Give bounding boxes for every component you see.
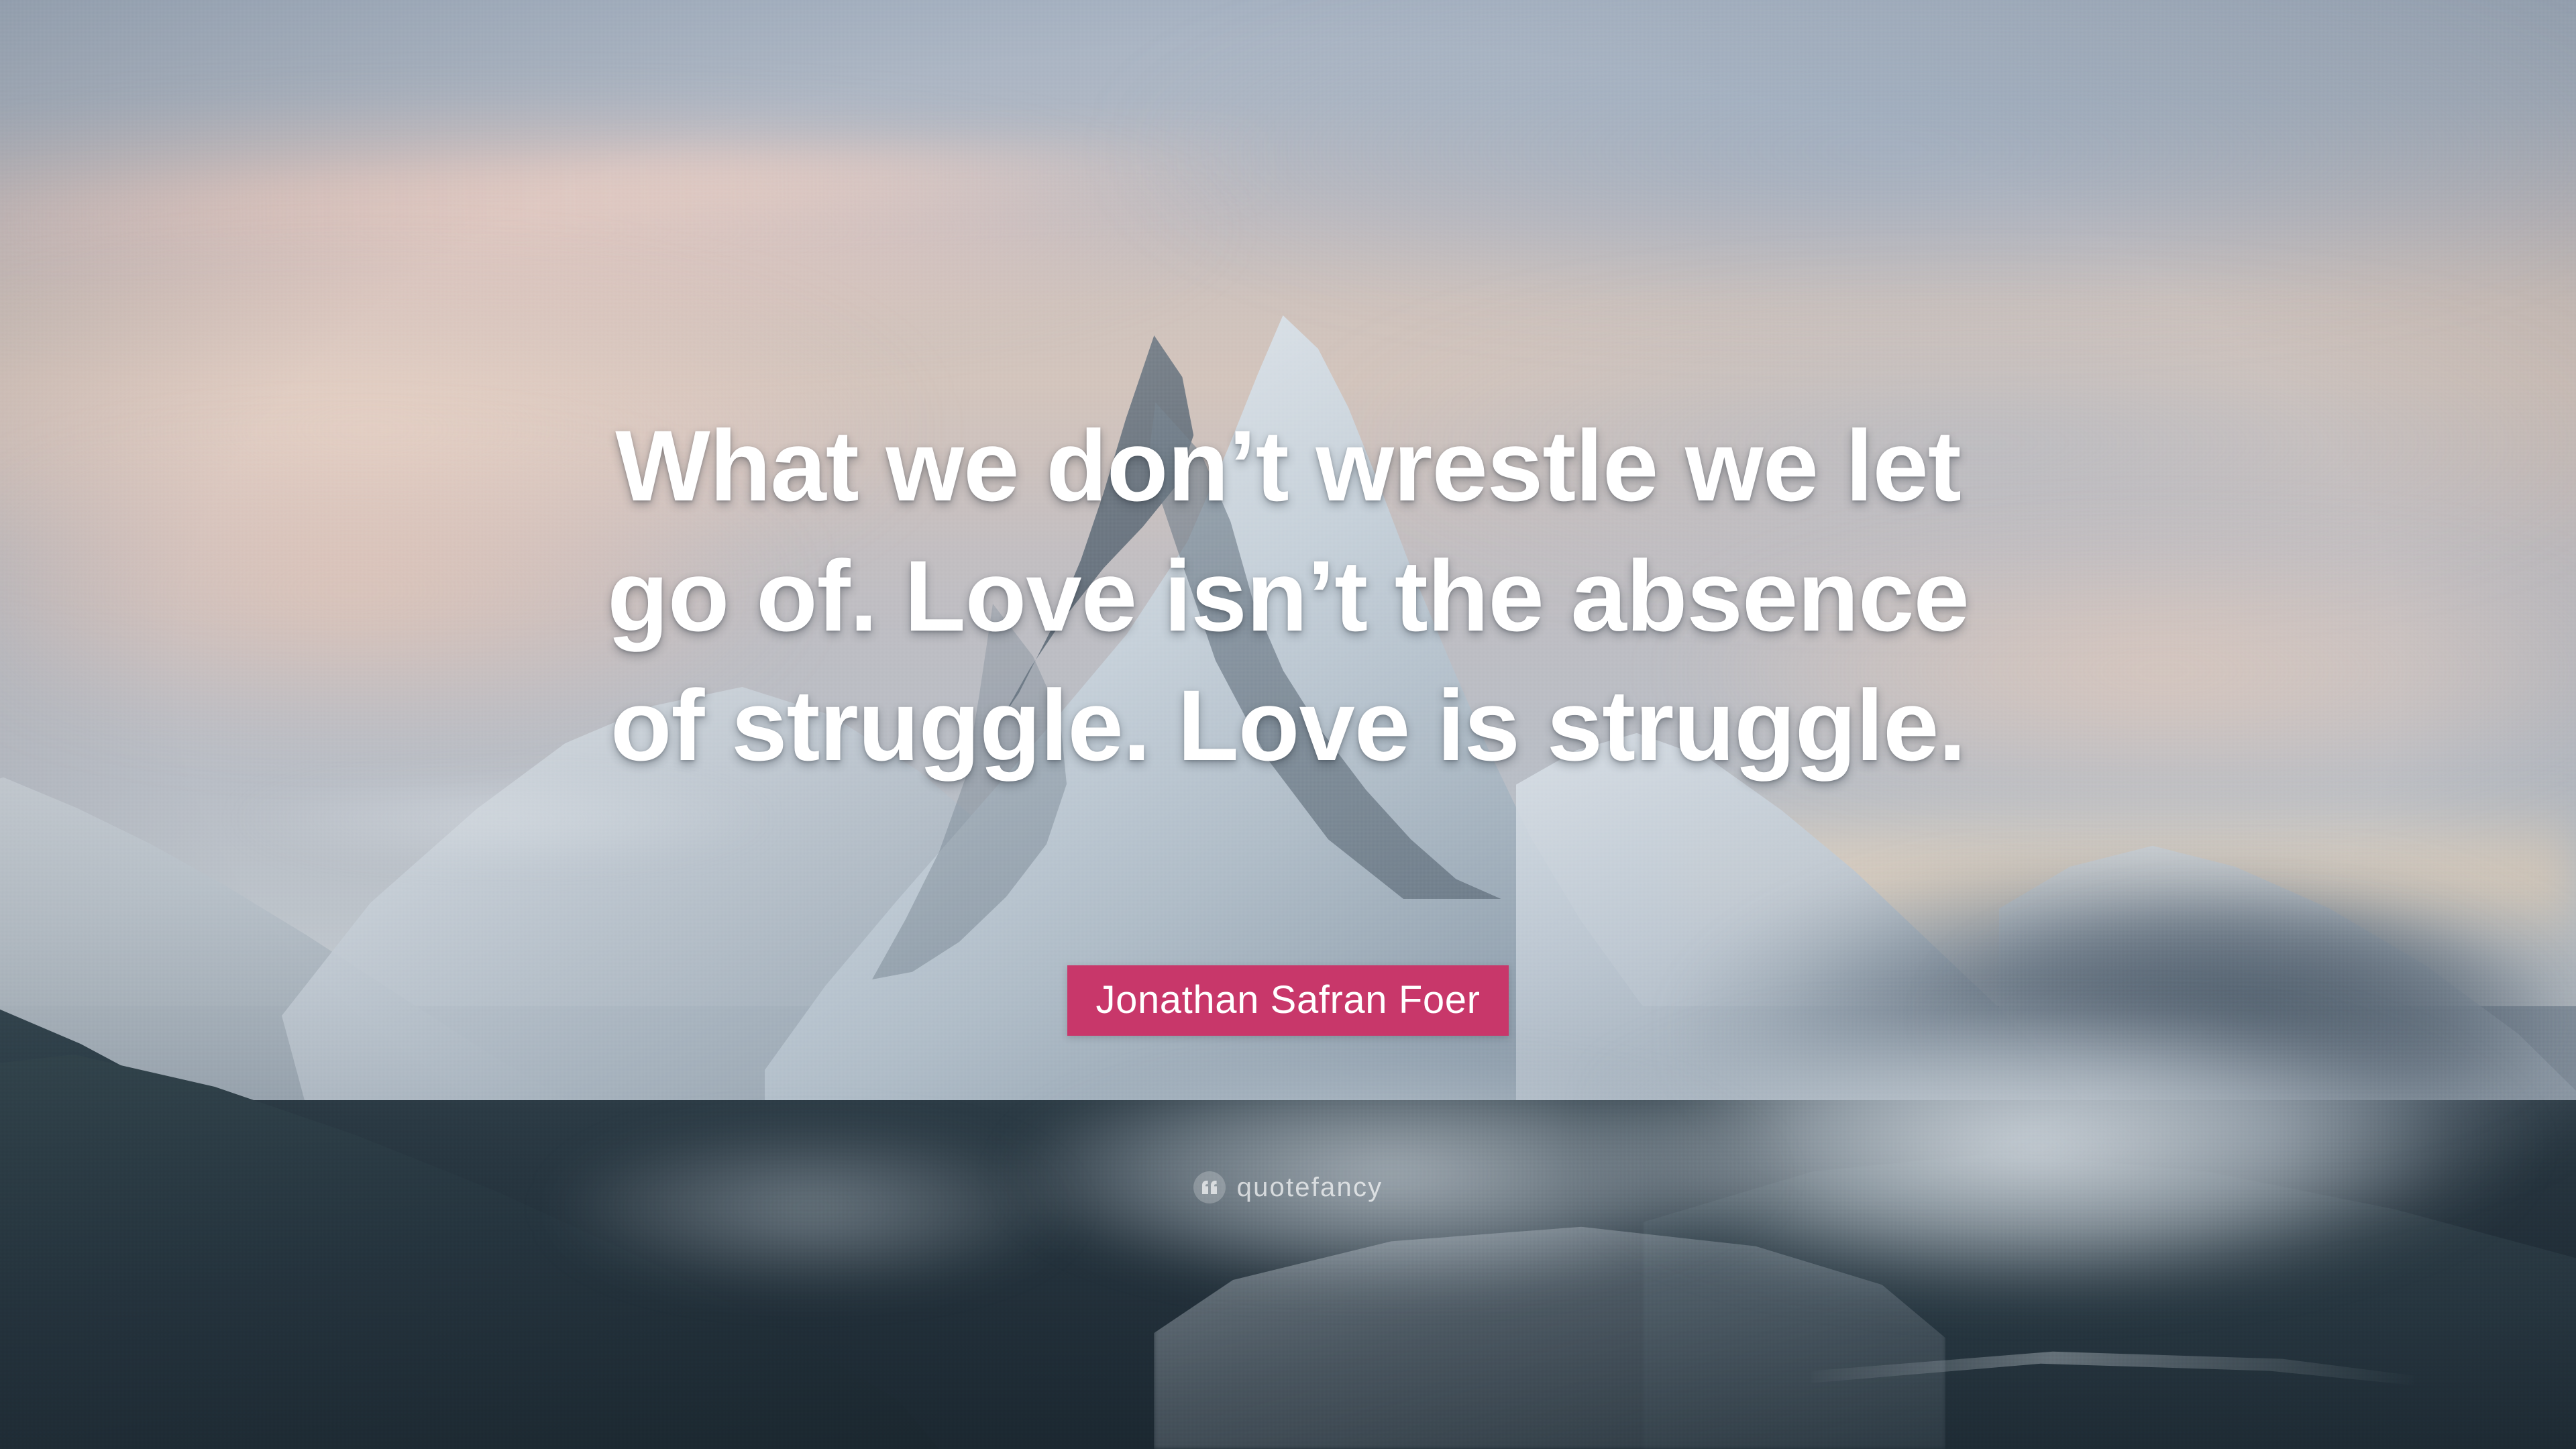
quote-text: What we don’t wrestle we let go of. Love…: [0, 401, 2576, 791]
quote-line-2: go of. Love isn’t the absence: [154, 531, 2422, 661]
quote-mark-icon: [1193, 1171, 1226, 1203]
author-attribution: Jonathan Safran Foer: [0, 965, 2576, 1036]
quote-poster: What we don’t wrestle we let go of. Love…: [0, 0, 2576, 1449]
author-name-badge: Jonathan Safran Foer: [1067, 965, 1508, 1036]
quote-line-3: of struggle. Love is struggle.: [154, 661, 2422, 791]
quotefancy-brand-text: quotefancy: [1237, 1174, 1383, 1201]
quote-line-1: What we don’t wrestle we let: [154, 401, 2422, 531]
quotefancy-watermark[interactable]: quotefancy: [0, 1171, 2576, 1203]
text-overlay: What we don’t wrestle we let go of. Love…: [0, 0, 2576, 1449]
